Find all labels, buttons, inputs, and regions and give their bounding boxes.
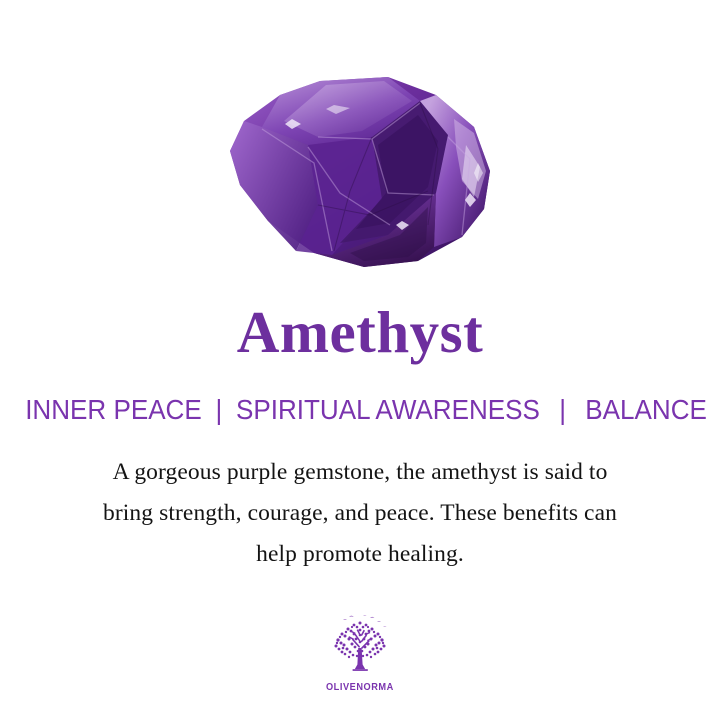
brand-logo: OLIVENORMA bbox=[0, 614, 720, 693]
description-text: A gorgeous purple gemstone, the amethyst… bbox=[40, 452, 680, 575]
page-title: Amethyst bbox=[0, 300, 720, 364]
description-line-3: help promote healing. bbox=[40, 534, 680, 575]
amethyst-info-card: Amethyst INNER PEACE | SPIRITUAL AWARENE… bbox=[0, 0, 720, 720]
keyword-tagline: INNER PEACE | SPIRITUAL AWARENESS | BALA… bbox=[25, 393, 695, 427]
tagline-separator-2: | bbox=[547, 393, 578, 427]
tagline-item-balance: BALANCE bbox=[585, 394, 707, 425]
tree-of-life-icon bbox=[323, 614, 397, 680]
description-line-1: A gorgeous purple gemstone, the amethyst… bbox=[40, 452, 680, 493]
description-line-2: bring strength, courage, and peace. Thes… bbox=[40, 493, 680, 534]
raw-amethyst-crystal-icon bbox=[222, 75, 498, 271]
tagline-item-spiritual-awareness: SPIRITUAL AWARENESS bbox=[236, 394, 540, 425]
gemstone-image bbox=[0, 70, 720, 275]
brand-wordmark: OLIVENORMA bbox=[326, 682, 394, 693]
tagline-separator-1: | bbox=[209, 393, 229, 427]
tagline-item-inner-peace: INNER PEACE bbox=[25, 394, 202, 425]
